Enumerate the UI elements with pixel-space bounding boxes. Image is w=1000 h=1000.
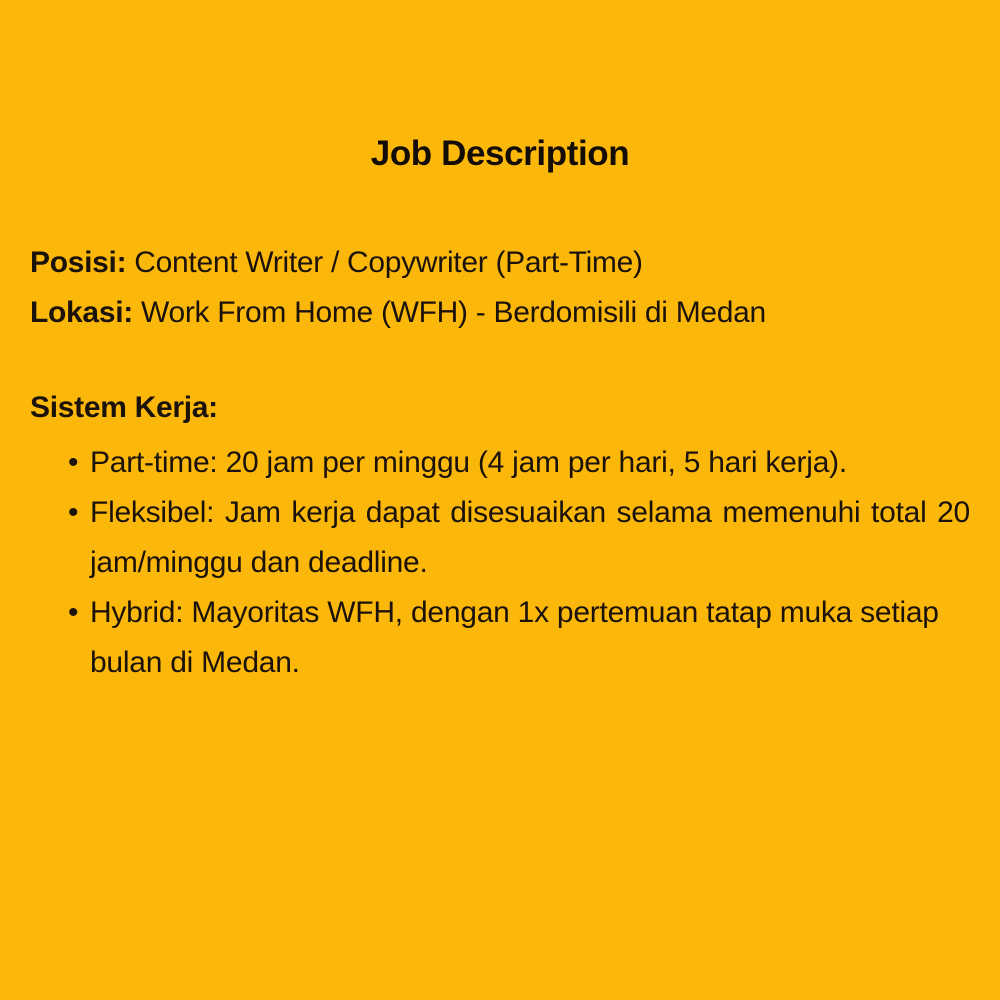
work-system-list: • Part-time: 20 jam per minggu (4 jam pe… (0, 438, 1000, 688)
section-heading-work-system: Sistem Kerja: (30, 386, 218, 430)
bullet-point-icon: • (68, 588, 82, 638)
page-title: Job Description (0, 131, 1000, 177)
meta-label-position: Posisi: (30, 246, 126, 279)
list-item-text: Hybrid: Mayoritas WFH, dengan 1x pertemu… (90, 588, 970, 688)
job-description-page: Job Description Posisi: Content Writer /… (0, 0, 1000, 1000)
bullet-point-icon: • (68, 488, 82, 538)
list-item-text: Part-time: 20 jam per minggu (4 jam per … (90, 438, 970, 488)
job-meta-block: Posisi: Content Writer / Copywriter (Par… (30, 238, 975, 338)
meta-value-location: Work From Home (WFH) - Berdomisili di Me… (133, 296, 766, 329)
meta-label-location: Lokasi: (30, 296, 133, 329)
list-item: • Hybrid: Mayoritas WFH, dengan 1x perte… (90, 588, 970, 688)
bullet-point-icon: • (68, 438, 82, 488)
meta-value-position: Content Writer / Copywriter (Part-Time) (126, 246, 642, 279)
meta-row-position: Posisi: Content Writer / Copywriter (Par… (30, 238, 975, 288)
list-item: • Part-time: 20 jam per minggu (4 jam pe… (90, 438, 970, 488)
list-item-text: Fleksibel: Jam kerja dapat disesuaikan s… (90, 488, 970, 588)
meta-row-location: Lokasi: Work From Home (WFH) - Berdomisi… (30, 288, 975, 338)
list-item: • Fleksibel: Jam kerja dapat disesuaikan… (90, 488, 970, 588)
